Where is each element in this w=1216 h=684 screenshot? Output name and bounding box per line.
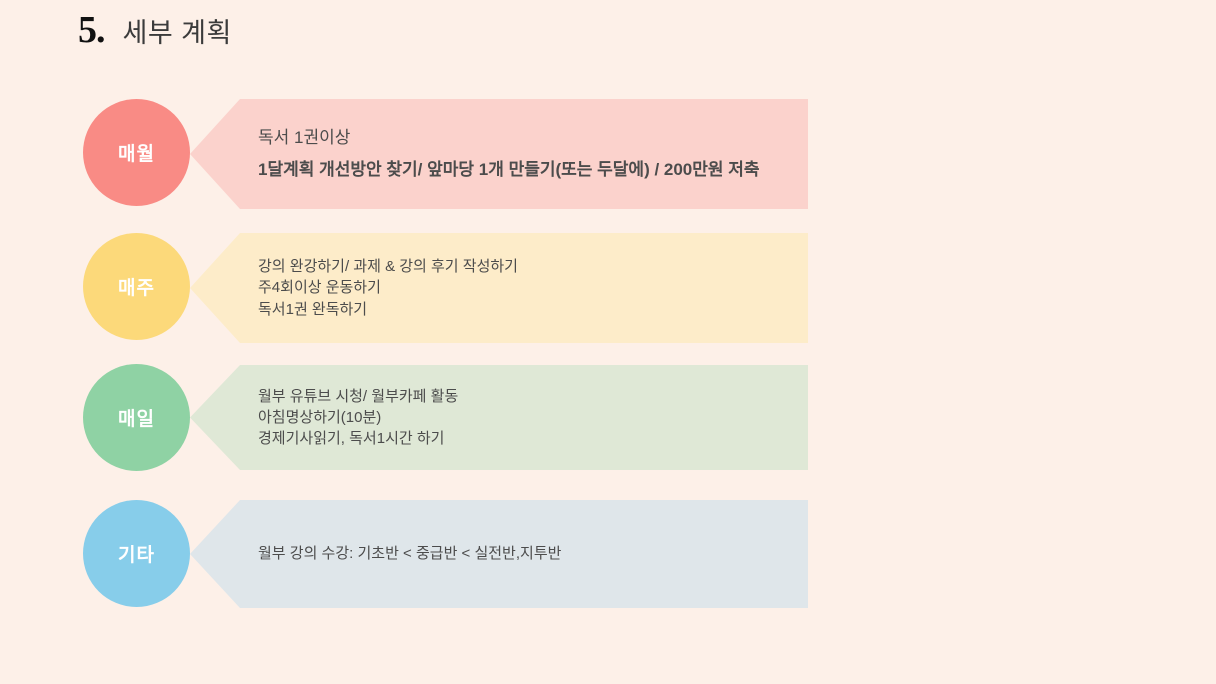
page-title: 5. 세부 계획 — [78, 8, 232, 52]
plan-line: 독서1권 완독하기 — [258, 299, 788, 320]
plan-circle-weekly: 매주 — [83, 233, 190, 340]
plan-circle-daily: 매일 — [83, 364, 190, 471]
plan-circle-label: 매주 — [118, 273, 155, 300]
plan-line: 월부 유튜브 시청/ 월부카페 활동 — [258, 386, 788, 407]
plan-banner-monthly: 독서 1권이상 1달계획 개선방안 찾기/ 앞마당 1개 만들기(또는 두달에)… — [190, 99, 808, 209]
plan-line: 독서 1권이상 — [258, 126, 788, 150]
plan-line: 주4회이상 운동하기 — [258, 277, 788, 298]
title-number: 5. — [78, 8, 105, 52]
plan-circle-label: 기타 — [118, 540, 155, 567]
plan-line: 월부 강의 수강: 기초반 < 중급반 < 실전반,지투반 — [258, 543, 788, 564]
plan-line: 강의 완강하기/ 과제 & 강의 후기 작성하기 — [258, 256, 788, 277]
plan-line: 경제기사읽기, 독서1시간 하기 — [258, 428, 788, 449]
plan-circle-etc: 기타 — [83, 500, 190, 607]
plan-banner-daily: 월부 유튜브 시청/ 월부카페 활동 아침명상하기(10분) 경제기사읽기, 독… — [190, 365, 808, 470]
plan-row-daily: 월부 유튜브 시청/ 월부카페 활동 아침명상하기(10분) 경제기사읽기, 독… — [0, 365, 1216, 470]
plan-circle-label: 매월 — [118, 139, 155, 166]
plan-circle-label: 매일 — [118, 404, 155, 431]
plan-circle-monthly: 매월 — [83, 99, 190, 206]
plan-line: 아침명상하기(10분) — [258, 407, 788, 428]
plan-line: 1달계획 개선방안 찾기/ 앞마당 1개 만들기(또는 두달에) / 200만원… — [258, 158, 788, 182]
plan-banner-etc: 월부 강의 수강: 기초반 < 중급반 < 실전반,지투반 — [190, 500, 808, 608]
title-heading: 세부 계획 — [123, 11, 232, 50]
plan-row-weekly: 강의 완강하기/ 과제 & 강의 후기 작성하기 주4회이상 운동하기 독서1권… — [0, 233, 1216, 343]
plan-row-monthly: 독서 1권이상 1달계획 개선방안 찾기/ 앞마당 1개 만들기(또는 두달에)… — [0, 99, 1216, 209]
plan-row-etc: 월부 강의 수강: 기초반 < 중급반 < 실전반,지투반 기타 — [0, 500, 1216, 608]
plan-banner-weekly: 강의 완강하기/ 과제 & 강의 후기 작성하기 주4회이상 운동하기 독서1권… — [190, 233, 808, 343]
